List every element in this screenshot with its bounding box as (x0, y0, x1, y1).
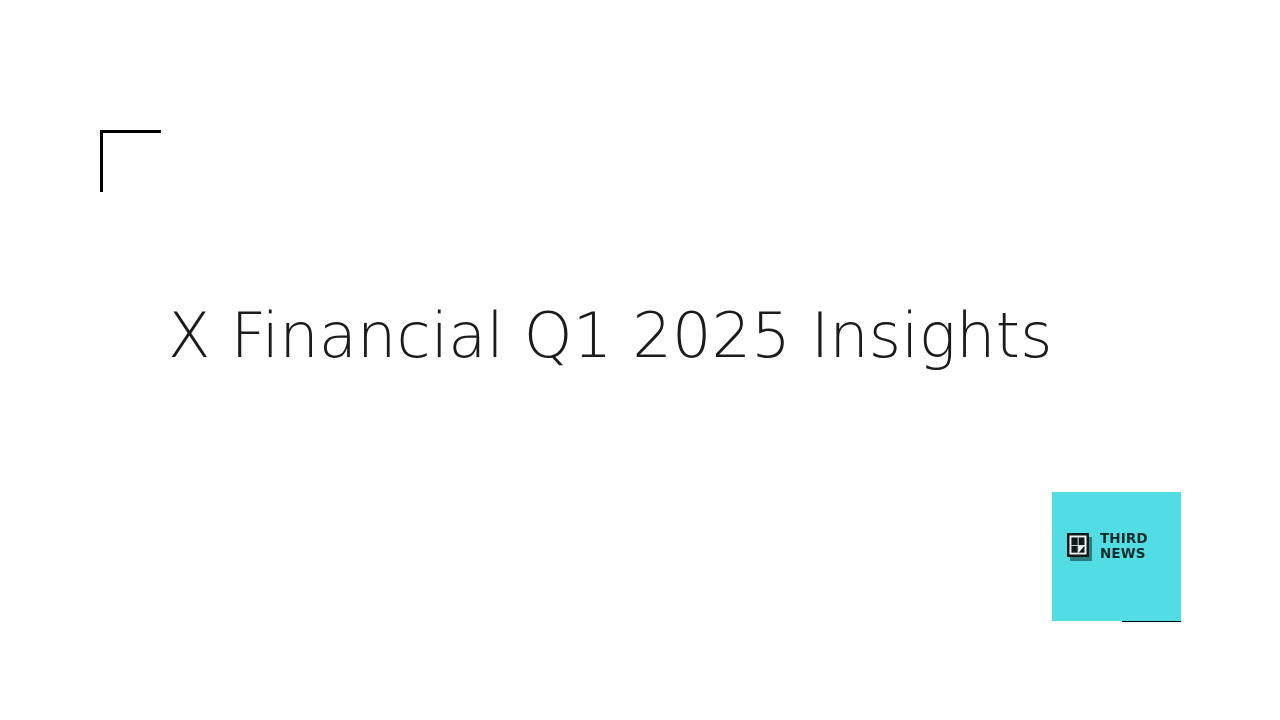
brand-wordmark: THIRD NEWS (1100, 533, 1148, 561)
brand-block: THIRD NEWS (1052, 492, 1181, 622)
newspaper-window-icon (1066, 532, 1094, 562)
title-slide: X Financial Q1 2025 Insights (0, 0, 1280, 720)
brand-wordmark-line-1: THIRD (1100, 533, 1148, 547)
brand-wordmark-line-2: NEWS (1100, 548, 1148, 562)
corner-bracket-horizontal-bar (100, 130, 161, 133)
corner-bracket-decoration (100, 130, 161, 192)
corner-bracket-vertical-bar (100, 130, 103, 192)
slide-title: X Financial Q1 2025 Insights (168, 300, 1148, 371)
brand-logo: THIRD NEWS (1066, 532, 1148, 562)
